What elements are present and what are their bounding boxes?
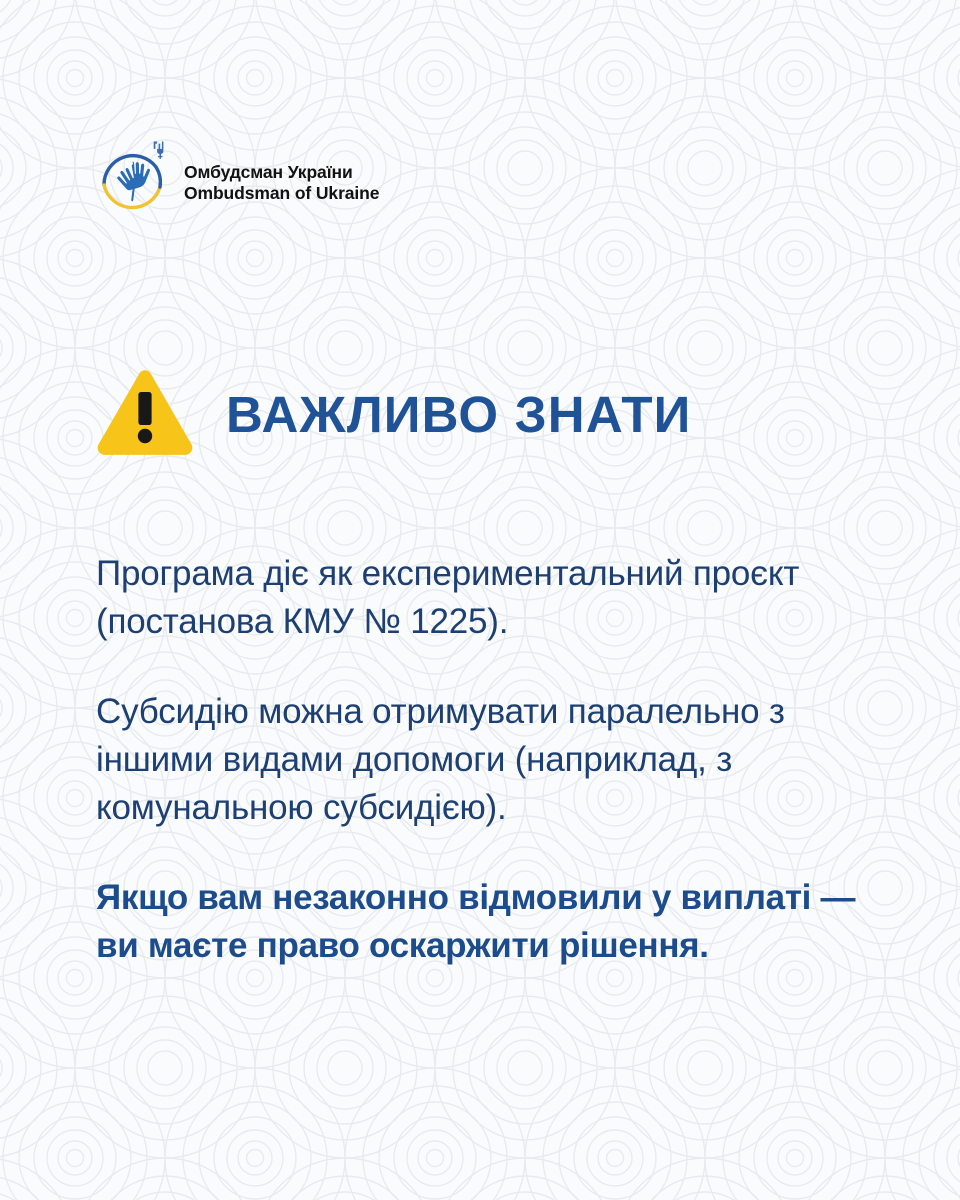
paragraph-parallel-assistance: Субсидію можна отримувати паралельно з і… [96,688,886,832]
poster-canvas: Омбудсман України Ombudsman of Ukraine В… [0,0,960,1200]
heading-row: ВАЖЛИВО ЗНАТИ [96,368,692,456]
body-copy: Програма діє як експериментальний проєкт… [96,550,886,970]
paragraph-right-to-appeal: Якщо вам незаконно відмовили у виплаті —… [96,874,886,970]
ombudsman-emblem-icon [96,139,170,217]
paragraph-experimental-project: Програма діє як експериментальний проєкт… [96,550,886,646]
brand-text: Омбудсман України Ombudsman of Ukraine [184,152,379,205]
brand-name-en: Ombudsman of Ukraine [184,183,379,204]
warning-triangle-icon [96,368,194,456]
brand-lockup: Омбудсман України Ombudsman of Ukraine [96,139,379,217]
page-title: ВАЖЛИВО ЗНАТИ [226,389,692,440]
brand-name-uk: Омбудсман України [184,162,379,183]
